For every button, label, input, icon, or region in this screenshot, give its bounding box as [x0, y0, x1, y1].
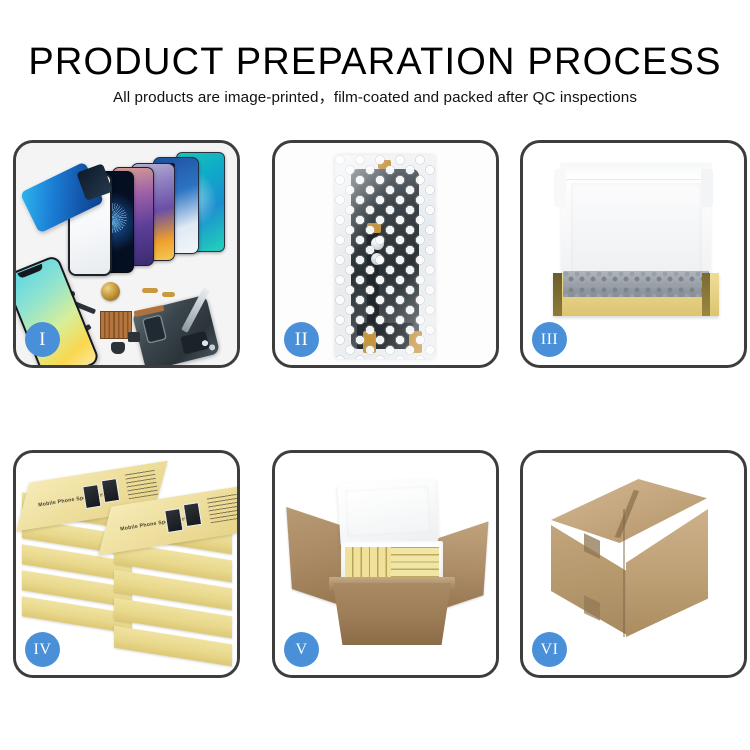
loudspeaker-part	[111, 342, 125, 354]
power-button-flex	[142, 288, 158, 293]
foam-lid-left-wing	[554, 169, 566, 207]
tray-left-edge	[553, 273, 562, 316]
step-badge-4: IV	[25, 632, 60, 667]
box-spec-text-lines-right	[207, 493, 237, 523]
box-artwork-phone-2	[101, 478, 120, 503]
grey-bubble-padding	[563, 271, 709, 297]
step-badge-3: III	[532, 322, 567, 357]
foam-box-lid-open	[337, 478, 438, 547]
panel-2-image: II	[275, 143, 496, 365]
box-artwork-phone-3	[164, 508, 183, 533]
product-preparation-infographic: PRODUCT PREPARATION PROCESS All products…	[0, 0, 750, 750]
foam-lid-top-edge	[561, 163, 711, 180]
process-step-panel-3: III	[520, 140, 747, 368]
page-title: PRODUCT PREPARATION PROCESS	[0, 42, 750, 82]
step-badge-5: V	[284, 632, 319, 667]
bubble-wrap-bag	[335, 155, 435, 359]
carton-body	[333, 583, 451, 645]
process-step-panel-2: II	[272, 140, 499, 368]
box-artwork-phone-4	[183, 502, 202, 527]
foam-lid-right-wing	[701, 169, 713, 207]
process-step-panel-6: VI	[520, 450, 747, 678]
sealed-carton-front-edge	[623, 509, 625, 637]
panel-5-image: V	[275, 453, 496, 675]
tray-right-edge	[702, 273, 710, 316]
volume-button-flex	[162, 292, 175, 297]
header: PRODUCT PREPARATION PROCESS All products…	[0, 0, 750, 130]
panel-3-image: III	[523, 143, 744, 365]
panel-4-image: Mobile Phone Spare Parts Mobile Phone Sp…	[16, 453, 237, 675]
process-step-grid: I II	[13, 140, 738, 680]
step-badge-1: I	[25, 322, 60, 357]
vibration-motor-part	[101, 282, 120, 301]
camera-module-part	[128, 332, 140, 342]
plastic-sheen	[335, 155, 435, 359]
page-subtitle: All products are image-printed，film-coat…	[0, 88, 750, 108]
foam-lid-inner	[571, 183, 702, 275]
process-step-panel-4: Mobile Phone Spare Parts Mobile Phone Sp…	[13, 450, 240, 678]
process-step-panel-5: V	[272, 450, 499, 678]
screws-group	[201, 339, 217, 351]
step-badge-2: II	[284, 322, 319, 357]
box-artwork-phone-1	[82, 484, 101, 509]
box-spec-text-lines-left	[125, 469, 159, 499]
process-step-panel-1: I	[13, 140, 240, 368]
panel-1-image: I	[16, 143, 237, 365]
panel-6-image: VI	[523, 453, 744, 675]
step-badge-6: VI	[532, 632, 567, 667]
